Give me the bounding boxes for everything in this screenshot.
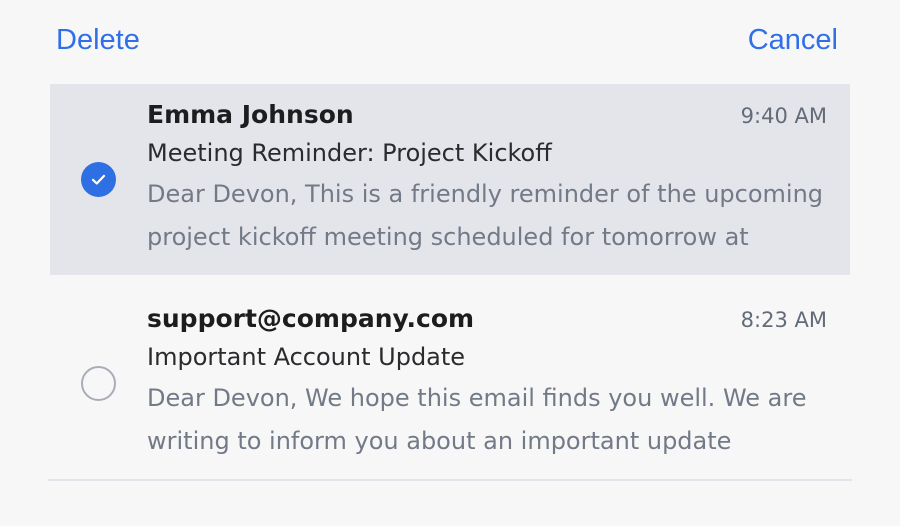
list-gap: [0, 275, 900, 288]
cancel-button[interactable]: Cancel: [748, 22, 838, 58]
email-preview: Dear Devon, This is a friendly reminder …: [147, 173, 850, 259]
email-selection-screen: Delete Cancel Emma Johnson 9:40 AM: [0, 0, 900, 526]
email-content: support@company.com 8:23 AM Important Ac…: [147, 288, 850, 479]
select-cell: [50, 288, 147, 479]
email-timestamp: 8:23 AM: [741, 305, 850, 335]
circle-outline-icon[interactable]: [81, 366, 116, 401]
email-list: Emma Johnson 9:40 AM Meeting Reminder: P…: [0, 84, 900, 481]
email-sender: support@company.com: [147, 302, 474, 336]
list-divider: [48, 479, 852, 481]
check-circle-filled-icon[interactable]: [81, 162, 116, 197]
email-subject: Meeting Reminder: Project Kickoff: [147, 137, 850, 170]
email-list-item[interactable]: support@company.com 8:23 AM Important Ac…: [50, 288, 850, 479]
email-timestamp: 9:40 AM: [741, 101, 850, 131]
email-preview: Dear Devon, We hope this email finds you…: [147, 377, 850, 463]
email-header-line: support@company.com 8:23 AM: [147, 302, 850, 336]
email-content: Emma Johnson 9:40 AM Meeting Reminder: P…: [147, 84, 850, 275]
email-sender: Emma Johnson: [147, 98, 354, 132]
email-header-line: Emma Johnson 9:40 AM: [147, 98, 850, 132]
email-list-item[interactable]: Emma Johnson 9:40 AM Meeting Reminder: P…: [50, 84, 850, 275]
action-bar: Delete Cancel: [0, 0, 900, 84]
delete-button[interactable]: Delete: [56, 22, 140, 58]
email-subject: Important Account Update: [147, 341, 850, 374]
select-cell: [50, 84, 147, 275]
